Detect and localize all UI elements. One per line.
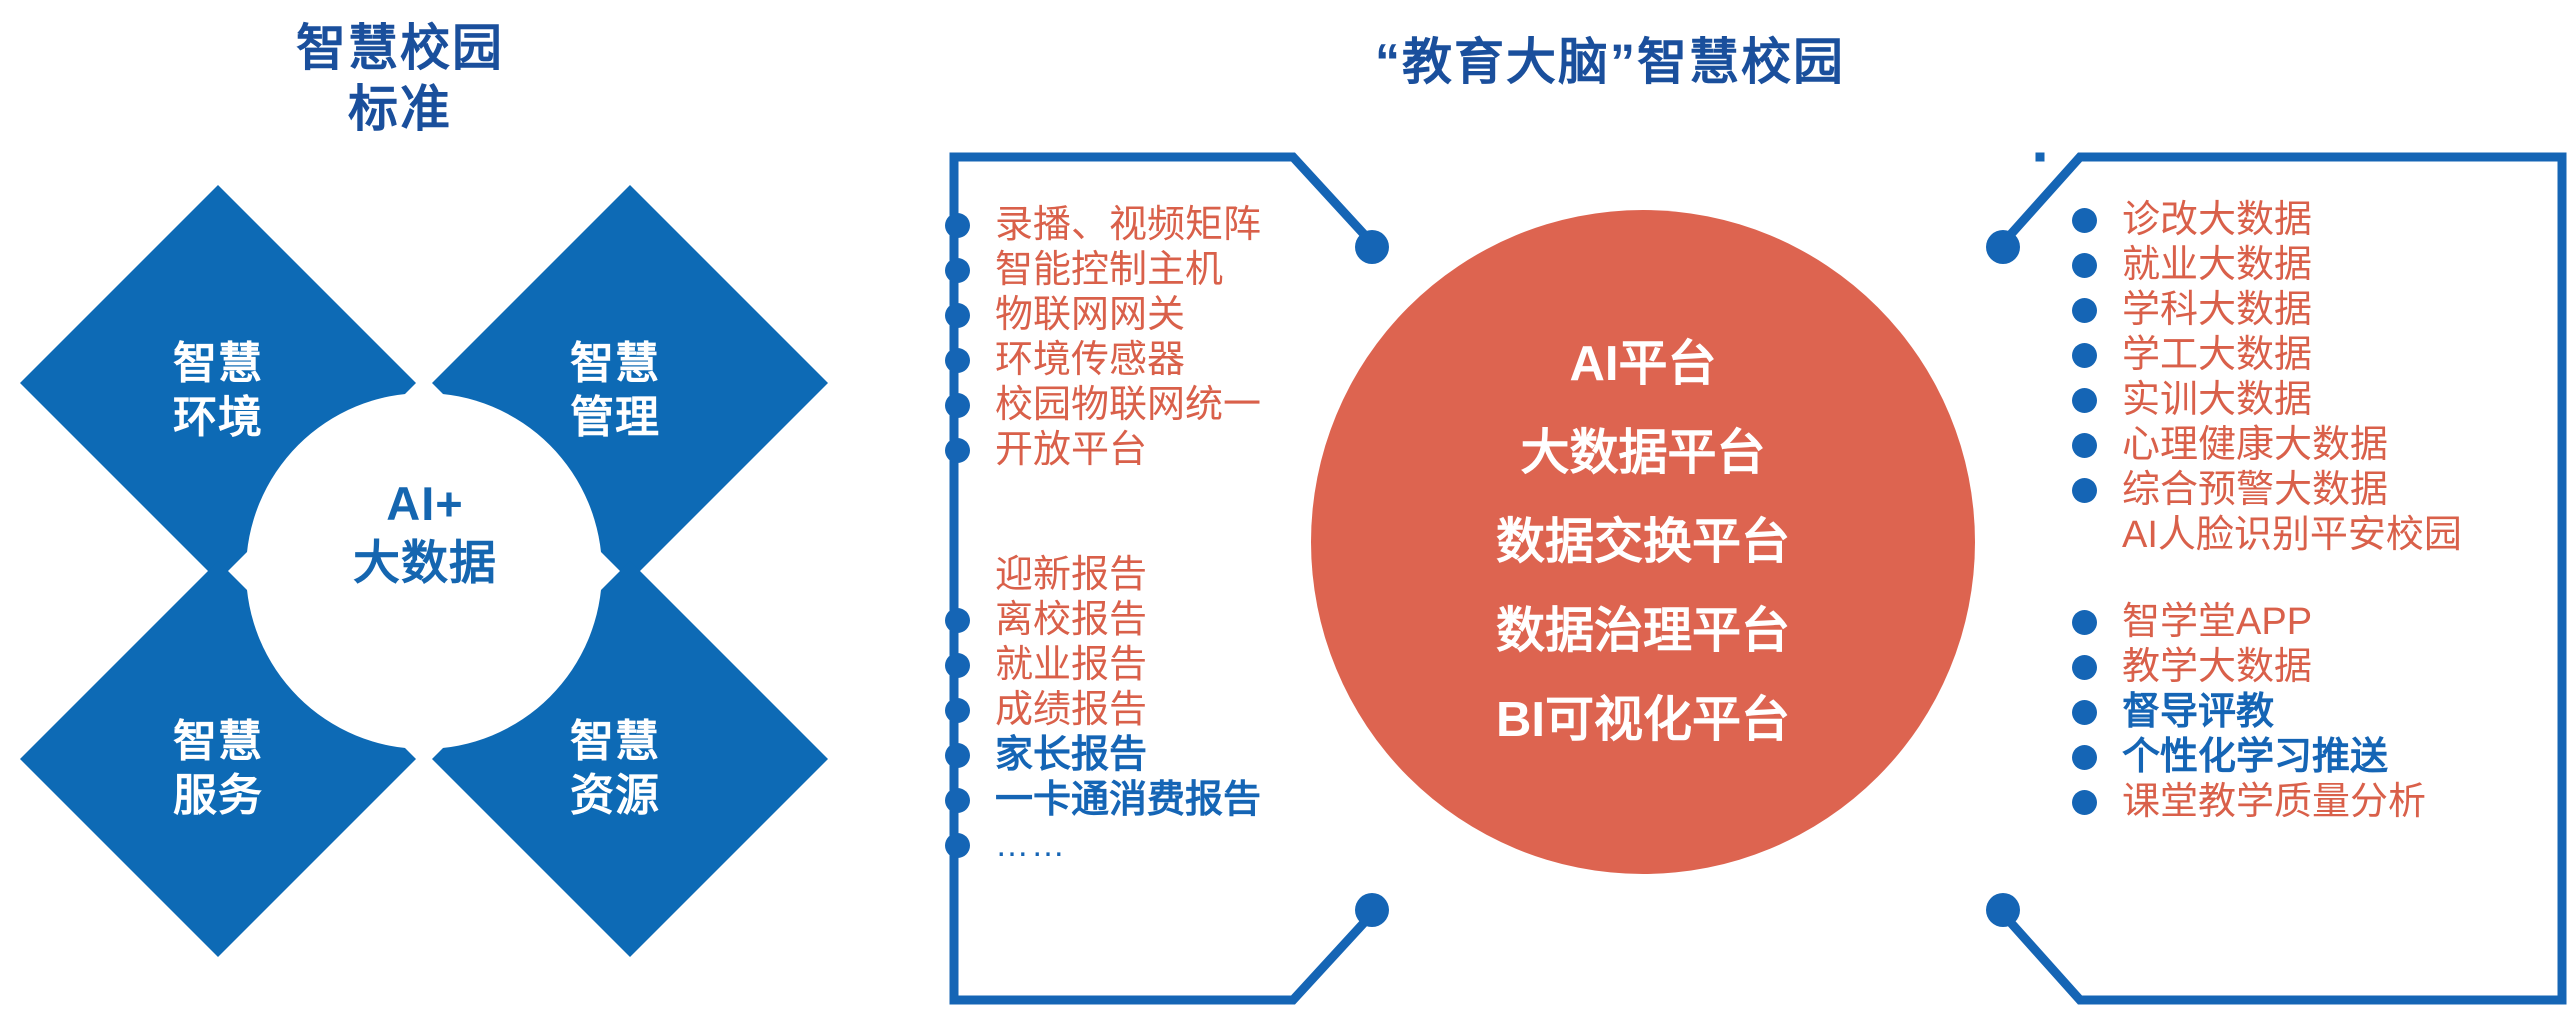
bullet-dot-icon xyxy=(2072,388,2097,413)
list-item: 成绩报告 xyxy=(945,688,1261,733)
list-item-label: 学工大数据 xyxy=(2122,333,2312,378)
list-item: …… xyxy=(945,823,1261,868)
right-bracket-endpoint-top xyxy=(1986,230,2020,264)
platform-item: 数据交换平台 xyxy=(1496,518,1790,567)
list-item-label: 录播、视频矩阵 xyxy=(995,203,1261,248)
bullet-dot-icon xyxy=(945,563,970,588)
bullet-dot-icon xyxy=(2072,700,2097,725)
right-list-group-teaching: 智学堂APP 教学大数据 督导评教 个性化学习推送 课堂教学质量分析 xyxy=(2072,600,2426,825)
list-item-label: 教学大数据 xyxy=(2122,645,2312,690)
bullet-dot-icon xyxy=(945,303,970,328)
list-item-label: 学科大数据 xyxy=(2122,288,2312,333)
list-item: 校园物联网统一 xyxy=(945,383,1261,428)
list-item: 综合预警大数据 xyxy=(2072,468,2462,513)
bullet-dot-icon xyxy=(945,743,970,768)
list-item: 智学堂APP xyxy=(2072,600,2426,645)
right-list-group-bigdata: 诊改大数据 就业大数据 学科大数据 学工大数据 实训大数据 心理健康大数据 综合… xyxy=(2072,198,2462,558)
left-bracket-path-bottom xyxy=(954,914,1372,1000)
list-item: 物联网网关 xyxy=(945,293,1261,338)
diamond-core-label: AI+ 大数据 xyxy=(305,475,545,593)
list-item-label: 离校报告 xyxy=(995,598,1147,643)
list-item: 实训大数据 xyxy=(2072,378,2462,423)
left-list-group-reports: 迎新报告 离校报告 就业报告 成绩报告 家长报告 一卡通消费报告 …… xyxy=(945,553,1261,868)
diamond-resource xyxy=(432,561,828,957)
bullet-dot-icon xyxy=(2072,433,2097,458)
bullet-dot-icon xyxy=(2072,655,2097,680)
list-item-label: 成绩报告 xyxy=(995,688,1147,733)
bullet-dot-icon xyxy=(2072,208,2097,233)
list-item-label: 课堂教学质量分析 xyxy=(2122,780,2426,825)
list-item-label: 就业报告 xyxy=(995,643,1147,688)
list-item: 学科大数据 xyxy=(2072,288,2462,333)
list-item-label: AI人脸识别平安校园 xyxy=(2122,513,2462,558)
list-item: AI人脸识别平安校园 xyxy=(2072,513,2462,558)
list-item: 诊改大数据 xyxy=(2072,198,2462,243)
list-item-label: 就业大数据 xyxy=(2122,243,2312,288)
center-section-title: “教育大脑”智慧校园 xyxy=(1280,32,1940,92)
platform-item: 数据治理平台 xyxy=(1496,607,1790,656)
smart-campus-diamond-cluster: 智慧 环境 智慧 管理 智慧 服务 智慧 资源 AI+ 大数据 xyxy=(20,105,850,1035)
list-item: 一卡通消费报告 xyxy=(945,778,1261,823)
list-item-label: 家长报告 xyxy=(995,733,1147,778)
list-item-label: 物联网网关 xyxy=(995,293,1185,338)
list-item-label: 校园物联网统一 xyxy=(995,383,1261,428)
list-item-label: 迎新报告 xyxy=(995,553,1147,598)
bullet-dot-icon xyxy=(945,833,970,858)
left-list-group-iot: 录播、视频矩阵 智能控制主机 物联网网关 环境传感器 校园物联网统一 开放平台 xyxy=(945,203,1261,473)
bullet-dot-icon xyxy=(2072,745,2097,770)
list-item: 录播、视频矩阵 xyxy=(945,203,1261,248)
right-bracket-outline-bottom xyxy=(2003,914,2562,1000)
list-item-label: 智学堂APP xyxy=(2122,600,2312,645)
list-item: 学工大数据 xyxy=(2072,333,2462,378)
bullet-dot-icon xyxy=(945,258,970,283)
left-bracket-endpoint-top xyxy=(1355,230,1389,264)
bullet-dot-icon xyxy=(945,438,970,463)
list-item-label: 诊改大数据 xyxy=(2122,198,2312,243)
platform-item: AI平台 xyxy=(1569,340,1716,389)
list-item-label: 开放平台 xyxy=(995,428,1147,473)
bullet-dot-icon xyxy=(945,788,970,813)
list-item: 智能控制主机 xyxy=(945,248,1261,293)
list-item-label: 个性化学习推送 xyxy=(2122,735,2388,780)
bullet-dot-icon xyxy=(2072,478,2097,503)
bullet-dot-icon xyxy=(945,608,970,633)
list-item: 就业大数据 xyxy=(2072,243,2462,288)
list-item-label: 智能控制主机 xyxy=(995,248,1223,293)
bullet-dot-icon xyxy=(2072,343,2097,368)
diagram-canvas: 智慧校园 标准 “教育大脑”智慧校园 智慧 环境 智慧 管理 xyxy=(0,0,2570,1034)
bullet-dot-icon xyxy=(945,213,970,238)
list-item-label: …… xyxy=(995,823,1067,868)
list-item: 心理健康大数据 xyxy=(2072,423,2462,468)
bullet-dot-icon xyxy=(2072,298,2097,323)
education-brain-circle: AI平台 大数据平台 数据交换平台 数据治理平台 BI可视化平台 xyxy=(1311,210,1975,874)
list-item-label: 环境传感器 xyxy=(995,338,1185,383)
bullet-dot-icon xyxy=(2072,610,2097,635)
platform-item: BI可视化平台 xyxy=(1496,696,1790,745)
list-item: 教学大数据 xyxy=(2072,645,2426,690)
left-bracket-endpoint-bottom xyxy=(1355,893,1389,927)
list-item: 离校报告 xyxy=(945,598,1261,643)
list-item: 督导评教 xyxy=(2072,690,2426,735)
bullet-dot-icon xyxy=(945,653,970,678)
list-item-label: 心理健康大数据 xyxy=(2122,423,2388,468)
list-item-label: 一卡通消费报告 xyxy=(995,778,1261,823)
right-bracket-endpoint-bottom xyxy=(1986,893,2020,927)
list-item-label: 综合预警大数据 xyxy=(2122,468,2388,513)
bullet-dot-icon xyxy=(945,698,970,723)
list-item: 环境传感器 xyxy=(945,338,1261,383)
bullet-dot-icon xyxy=(2072,790,2097,815)
list-item-label: 实训大数据 xyxy=(2122,378,2312,423)
bullet-dot-icon xyxy=(945,393,970,418)
bullet-dot-icon xyxy=(2072,253,2097,278)
list-item: 迎新报告 xyxy=(945,553,1261,598)
list-item: 个性化学习推送 xyxy=(2072,735,2426,780)
list-item: 开放平台 xyxy=(945,428,1261,473)
list-item: 课堂教学质量分析 xyxy=(2072,780,2426,825)
list-item: 家长报告 xyxy=(945,733,1261,778)
platform-item: 大数据平台 xyxy=(1520,429,1765,478)
list-item-label: 督导评教 xyxy=(2122,690,2274,735)
bullet-dot-icon xyxy=(2072,523,2097,548)
bullet-dot-icon xyxy=(945,348,970,373)
diamond-service xyxy=(20,561,416,957)
list-item: 就业报告 xyxy=(945,643,1261,688)
